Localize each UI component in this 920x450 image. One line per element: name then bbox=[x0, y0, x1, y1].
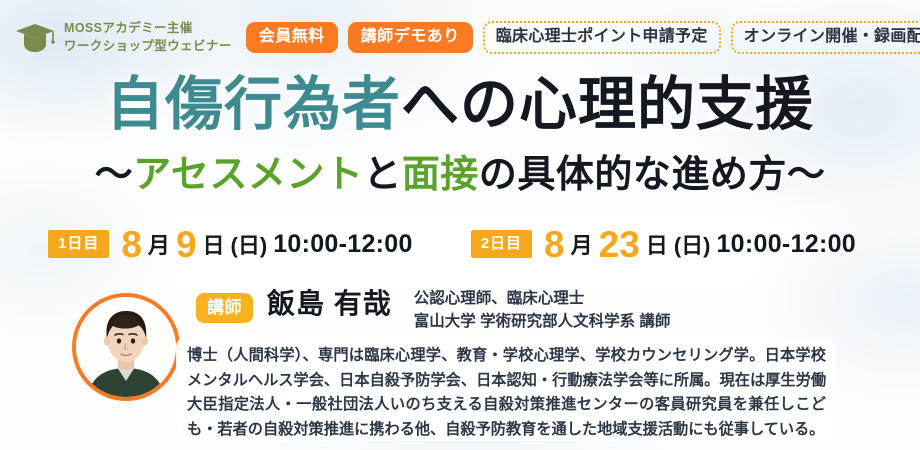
speaker-credentials: 公認心理師、臨床心理士 富山大学 学術研究部人文科学系 講師 bbox=[414, 287, 671, 334]
subtitle-part-3: の具体的な進め方～ bbox=[479, 154, 826, 196]
speaker-row: 講師 飯島 有哉 公認心理師、臨床心理士 富山大学 学術研究部人文科学系 講師 bbox=[196, 287, 670, 334]
badge-members-free: 会員無料 bbox=[246, 22, 338, 53]
title-rest: への心理的支援 bbox=[401, 72, 814, 137]
subtitle-green-2: 面接 bbox=[402, 154, 479, 196]
date-block-day1: 1日目 8月9日(日)10:00-12:00 bbox=[48, 226, 413, 263]
sub-title: ～アセスメントと面接の具体的な進め方～ bbox=[0, 156, 920, 194]
day1-month-unit: 月 bbox=[148, 228, 170, 260]
subtitle-green-1: アセスメント bbox=[133, 154, 363, 196]
brand-line-1: MOSSアカデミー主催 bbox=[64, 19, 232, 37]
speaker-credential-line-2: 富山大学 学術研究部人文科学系 講師 bbox=[414, 310, 671, 333]
badge-cp-points: 臨床心理士ポイント申請予定 bbox=[483, 21, 721, 54]
subtitle-part-1: ～ bbox=[95, 154, 134, 196]
header-badges: 会員無料 講師デモあり 臨床心理士ポイント申請予定 オンライン開催・録画配信あり bbox=[246, 21, 920, 54]
date-block-day2: 2日目 8月23日(日)10:00-12:00 bbox=[471, 226, 856, 263]
brand-line-2: ワークショップ型ウェビナー bbox=[64, 37, 232, 55]
day2-month-unit: 月 bbox=[571, 228, 593, 260]
day2-time: 10:00-12:00 bbox=[716, 230, 856, 259]
banner-root: MOSSアカデミー主催 ワークショップ型ウェビナー 会員無料 講師デモあり 臨床… bbox=[0, 0, 920, 450]
day1-time: 10:00-12:00 bbox=[273, 230, 413, 259]
speaker-bio: 博士（人間科学）、専門は臨床心理学、教育・学校心理学、学校カウンセリング学。日本… bbox=[176, 337, 836, 441]
day2-month-number: 8 bbox=[544, 226, 565, 263]
speaker-avatar bbox=[72, 293, 180, 401]
day2-weekday: (日) bbox=[674, 228, 711, 260]
graduation-cap-icon bbox=[14, 20, 56, 54]
date-row: 1日目 8月9日(日)10:00-12:00 2日目 8月23日(日)10:00… bbox=[0, 222, 920, 266]
speaker-credential-line-1: 公認心理師、臨床心理士 bbox=[414, 287, 671, 310]
main-title: 自傷行為者への心理的支援 bbox=[0, 76, 920, 134]
day1-badge: 1日目 bbox=[48, 230, 109, 258]
day2-badge: 2日目 bbox=[471, 230, 532, 258]
day1-month-number: 8 bbox=[121, 226, 142, 263]
badge-instructor-demo: 講師デモあり bbox=[348, 22, 473, 53]
day1-day-unit: 日 bbox=[203, 228, 225, 260]
day2-day-unit: 日 bbox=[646, 228, 668, 260]
day1-weekday: (日) bbox=[231, 228, 268, 260]
speaker-badge: 講師 bbox=[196, 293, 253, 323]
brand-text: MOSSアカデミー主催 ワークショップ型ウェビナー bbox=[64, 19, 232, 55]
subtitle-part-2: と bbox=[363, 154, 402, 196]
speaker-name: 飯島 有哉 bbox=[267, 290, 392, 318]
day1-day-number: 9 bbox=[176, 226, 197, 263]
brand-block: MOSSアカデミー主催 ワークショップ型ウェビナー bbox=[14, 19, 232, 55]
day2-day-number: 23 bbox=[599, 226, 640, 263]
title-highlight: 自傷行為者 bbox=[106, 72, 401, 137]
header-bar: MOSSアカデミー主催 ワークショップ型ウェビナー 会員無料 講師デモあり 臨床… bbox=[0, 14, 920, 60]
badge-online-recording: オンライン開催・録画配信あり bbox=[731, 21, 920, 54]
